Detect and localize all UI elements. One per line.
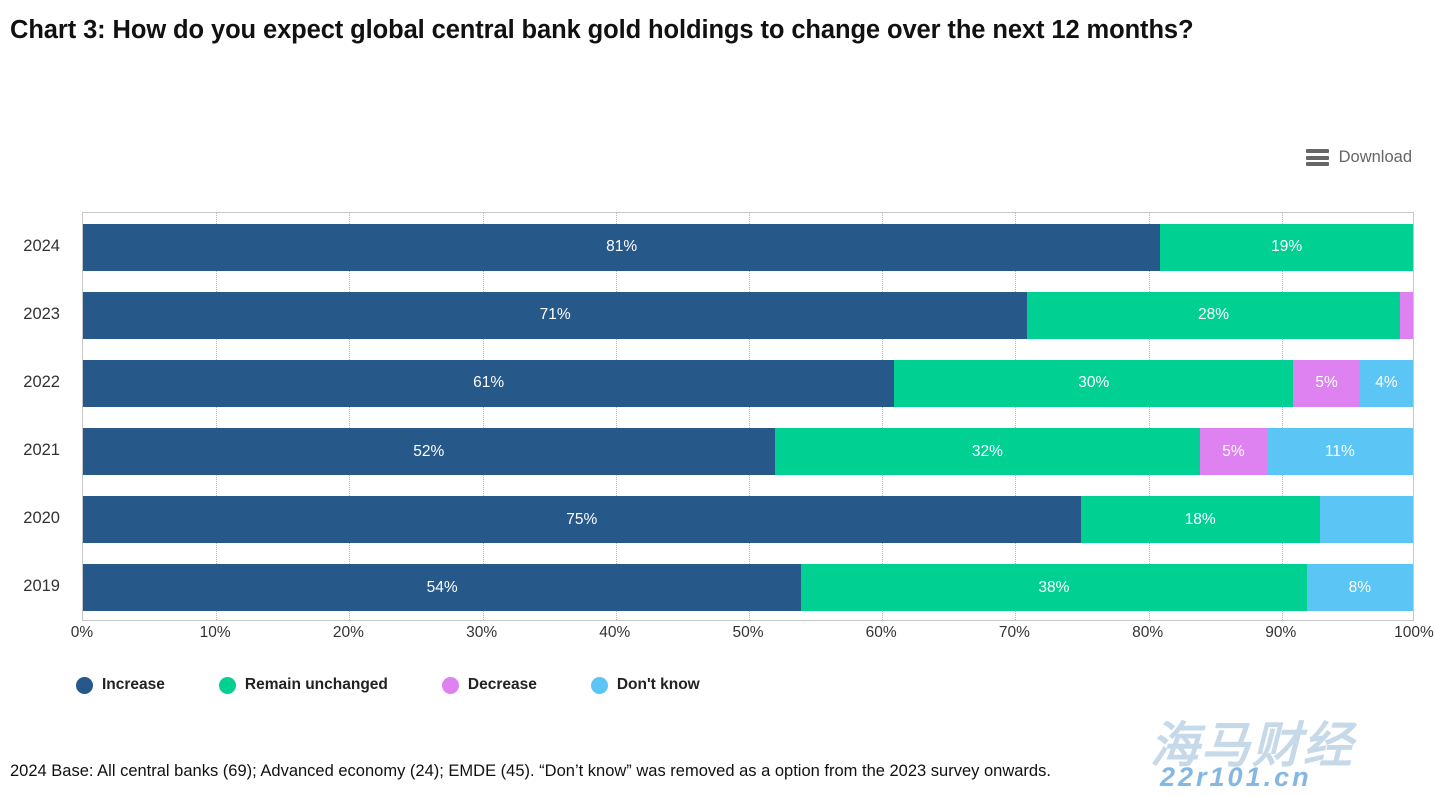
download-button[interactable]: Download: [1306, 148, 1412, 167]
bar-segment-label: 71%: [540, 306, 571, 324]
bar-row: 81%19%: [83, 224, 1413, 271]
bar-segment-label: 11%: [1325, 443, 1355, 461]
bar-row: 75%18%: [83, 496, 1413, 543]
y-axis-tick-label: 2022: [23, 359, 60, 406]
bar-segment[interactable]: [1400, 292, 1413, 339]
x-axis-tick-label: 40%: [599, 624, 630, 642]
bar-row: 54%38%8%: [83, 564, 1413, 611]
x-axis-tick-label: 60%: [866, 624, 897, 642]
bar-series-container: 81%19%71%28%61%30%5%4%52%32%5%11%75%18%5…: [83, 213, 1413, 620]
hamburger-menu-icon: [1306, 149, 1329, 166]
bar-segment[interactable]: 11%: [1267, 428, 1413, 475]
footnote: 2024 Base: All central banks (69); Advan…: [10, 762, 1430, 781]
legend-color-swatch-icon: [591, 677, 608, 694]
bar-segment[interactable]: 61%: [83, 360, 894, 407]
legend-item-label: Don't know: [617, 676, 700, 694]
y-axis-tick-label: 2020: [23, 495, 60, 542]
bar-segment[interactable]: 71%: [83, 292, 1027, 339]
bar-segment[interactable]: 4%: [1360, 360, 1413, 407]
bar-segment-label: 38%: [1038, 579, 1069, 597]
x-axis-tick-label: 80%: [1132, 624, 1163, 642]
bar-segment-label: 75%: [566, 511, 597, 529]
legend-item-label: Remain unchanged: [245, 676, 388, 694]
bar-segment[interactable]: 38%: [801, 564, 1306, 611]
x-axis-tick-label: 100%: [1394, 624, 1434, 642]
bar-segment-label: 5%: [1222, 443, 1244, 461]
bar-row: 61%30%5%4%: [83, 360, 1413, 407]
x-axis-tick-label: 50%: [732, 624, 763, 642]
bar-segment[interactable]: 5%: [1293, 360, 1360, 407]
x-axis-tick-label: 10%: [200, 624, 231, 642]
legend-item-label: Decrease: [468, 676, 537, 694]
bar-segment[interactable]: 32%: [775, 428, 1201, 475]
bar-segment-label: 18%: [1185, 511, 1216, 529]
plot-area: 81%19%71%28%61%30%5%4%52%32%5%11%75%18%5…: [82, 212, 1414, 621]
bar-segment[interactable]: 30%: [894, 360, 1293, 407]
x-axis-tick-label: 70%: [999, 624, 1030, 642]
y-axis-tick-label: 2023: [23, 291, 60, 338]
bar-segment[interactable]: 54%: [83, 564, 801, 611]
legend-item[interactable]: Decrease: [442, 676, 537, 694]
x-axis: 0%10%20%30%40%50%60%70%80%90%100%: [82, 624, 1414, 650]
legend-color-swatch-icon: [76, 677, 93, 694]
page-title: Chart 3: How do you expect global centra…: [10, 12, 1430, 48]
bar-segment[interactable]: 8%: [1307, 564, 1413, 611]
bar-row: 52%32%5%11%: [83, 428, 1413, 475]
legend-color-swatch-icon: [219, 677, 236, 694]
bar-segment-label: 19%: [1271, 238, 1302, 256]
x-axis-tick-label: 90%: [1265, 624, 1296, 642]
download-label: Download: [1339, 148, 1412, 167]
bar-segment[interactable]: 19%: [1160, 224, 1413, 271]
bar-segment-label: 54%: [427, 579, 458, 597]
bar-segment[interactable]: 5%: [1200, 428, 1267, 475]
y-axis-tick-label: 2021: [23, 427, 60, 474]
bar-segment[interactable]: 52%: [83, 428, 775, 475]
legend-item-label: Increase: [102, 676, 165, 694]
bar-segment-label: 28%: [1198, 306, 1229, 324]
bar-segment-label: 8%: [1349, 579, 1371, 597]
y-axis-tick-label: 2019: [23, 563, 60, 610]
bar-segment-label: 61%: [473, 374, 504, 392]
y-axis-tick-label: 2024: [23, 223, 60, 270]
x-axis-tick-label: 20%: [333, 624, 364, 642]
legend-item[interactable]: Remain unchanged: [219, 676, 388, 694]
bar-segment[interactable]: 81%: [83, 224, 1160, 271]
bar-segment-label: 30%: [1078, 374, 1109, 392]
y-axis: 202420232022202120202019: [0, 212, 74, 621]
legend-color-swatch-icon: [442, 677, 459, 694]
bar-row: 71%28%: [83, 292, 1413, 339]
bar-segment[interactable]: 18%: [1081, 496, 1320, 543]
legend-item[interactable]: Increase: [76, 676, 165, 694]
bar-segment[interactable]: 75%: [83, 496, 1081, 543]
legend: IncreaseRemain unchangedDecreaseDon't kn…: [76, 676, 754, 694]
x-axis-tick-label: 0%: [71, 624, 93, 642]
bar-segment-label: 4%: [1375, 374, 1397, 392]
bar-segment-label: 5%: [1315, 374, 1337, 392]
x-axis-tick-label: 30%: [466, 624, 497, 642]
bar-segment-label: 52%: [413, 443, 444, 461]
bar-segment-label: 32%: [972, 443, 1003, 461]
bar-segment[interactable]: [1320, 496, 1413, 543]
bar-segment-label: 81%: [606, 238, 637, 256]
legend-item[interactable]: Don't know: [591, 676, 700, 694]
bar-segment[interactable]: 28%: [1027, 292, 1399, 339]
